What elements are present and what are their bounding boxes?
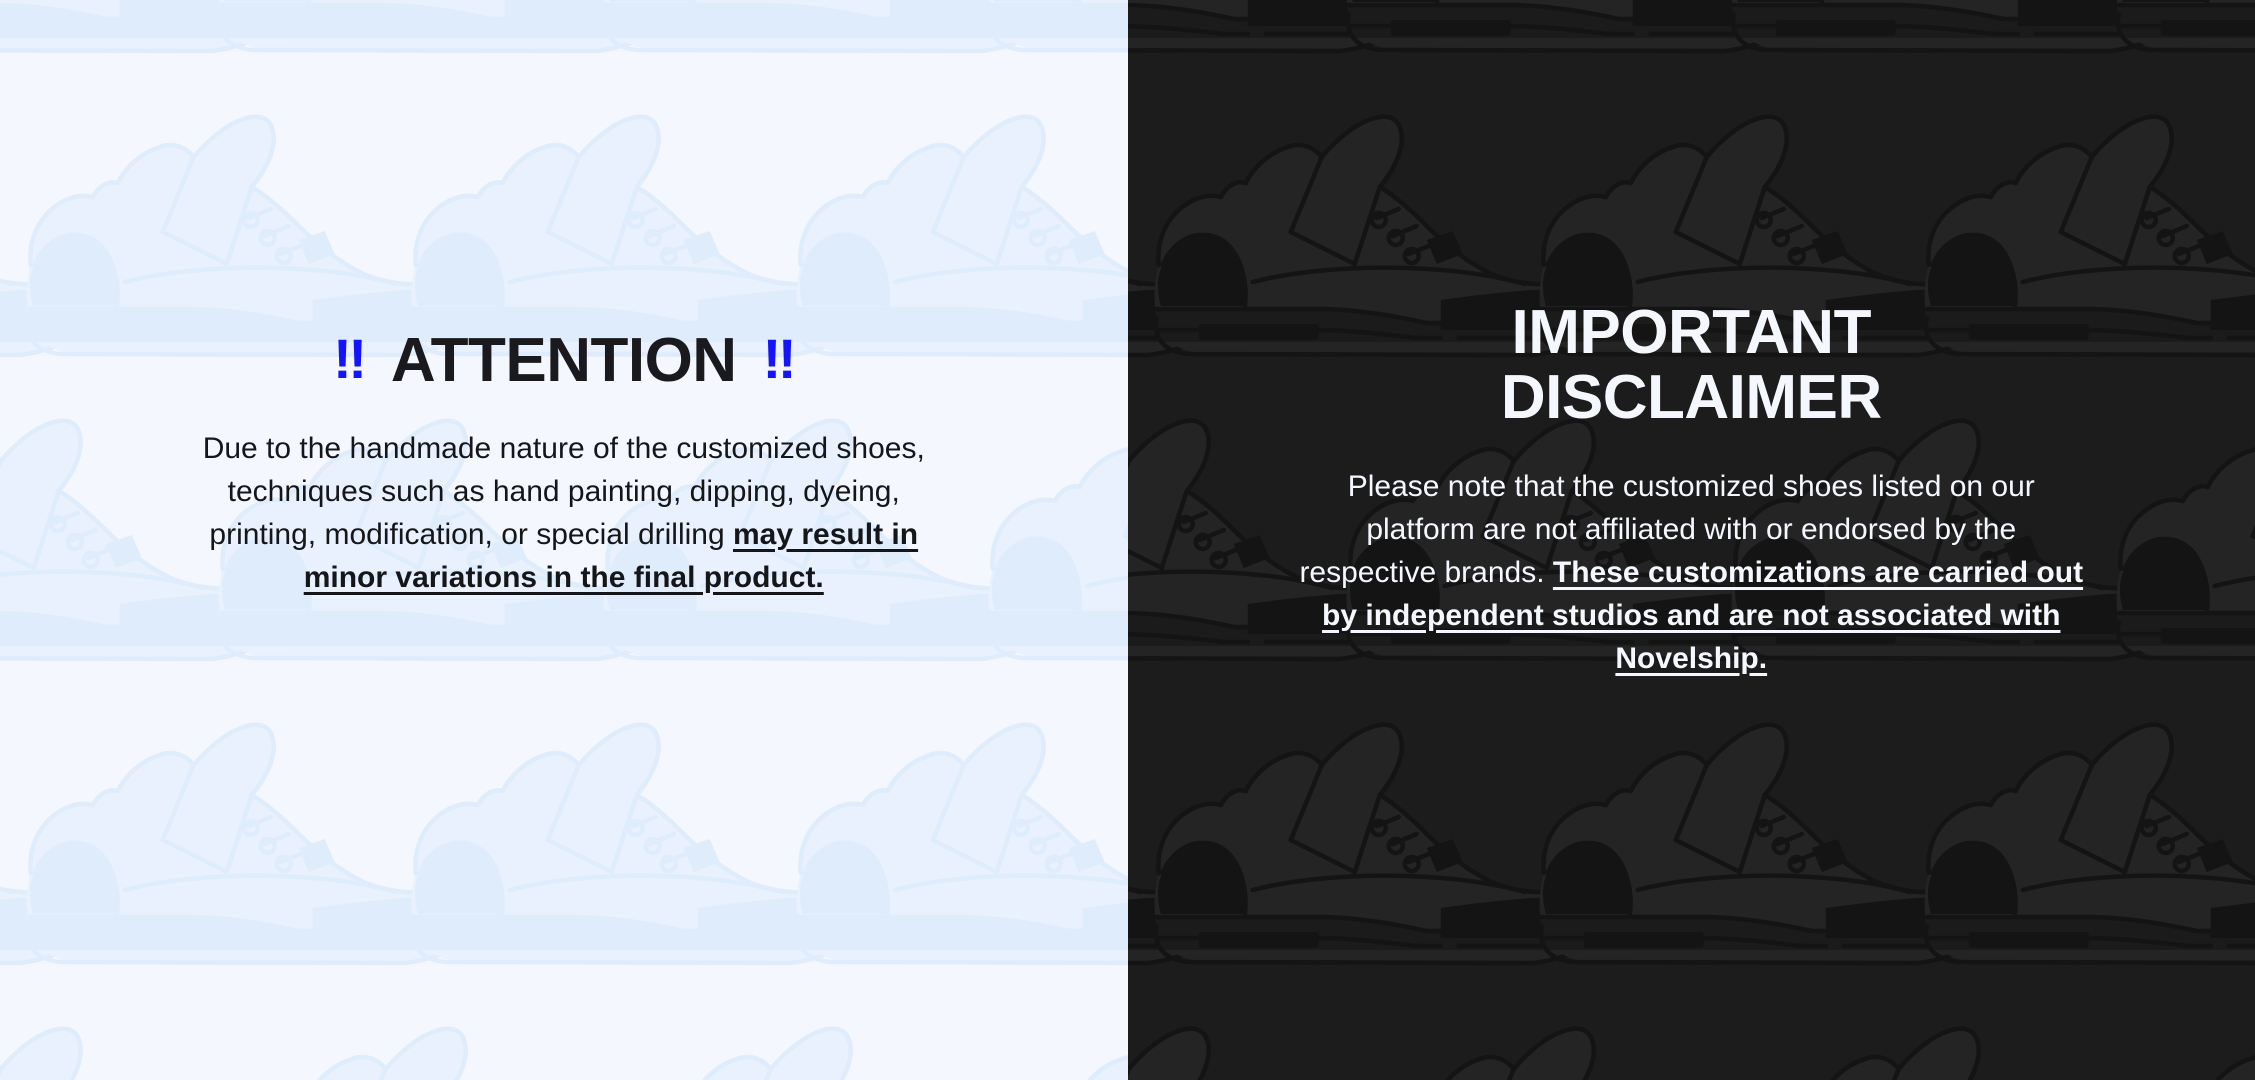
attention-body: Due to the handmade nature of the custom… xyxy=(184,428,944,600)
disclaimer-heading: IMPORTANT DISCLAIMER xyxy=(1501,300,1882,430)
disclaimer-heading-line-2: DISCLAIMER xyxy=(1501,365,1882,430)
attention-content: ‼ ATTENTION ‼ Due to the handmade nature… xyxy=(0,0,1128,600)
disclaimer-panel: IMPORTANT DISCLAIMER Please note that th… xyxy=(1128,0,2255,1080)
disclaimer-banner: ‼ ATTENTION ‼ Due to the handmade nature… xyxy=(0,0,2255,1080)
disclaimer-body: Please note that the customized shoes li… xyxy=(1296,466,2086,680)
disclaimer-heading-line-1: IMPORTANT xyxy=(1501,300,1882,365)
attention-panel: ‼ ATTENTION ‼ Due to the handmade nature… xyxy=(0,0,1128,1080)
attention-heading-text: ATTENTION xyxy=(391,330,737,392)
attention-heading: ‼ ATTENTION ‼ xyxy=(333,330,794,392)
double-exclamation-left-icon: ‼ xyxy=(333,331,365,387)
disclaimer-content: IMPORTANT DISCLAIMER Please note that th… xyxy=(1128,0,2255,681)
double-exclamation-right-icon: ‼ xyxy=(763,331,795,387)
